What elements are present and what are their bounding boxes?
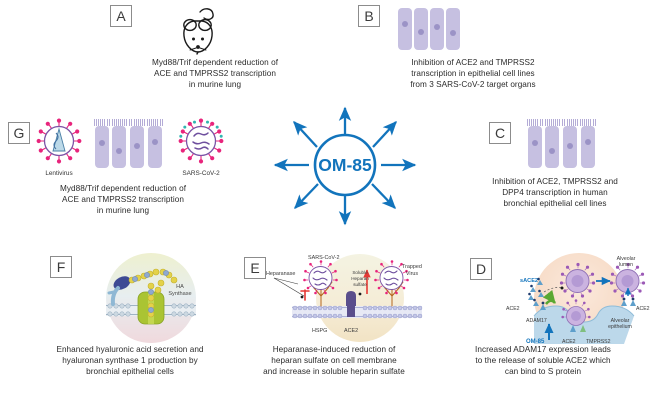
hyaluronan-synthase-icon: HA Synthase — [88, 252, 214, 344]
epithelial-cell — [398, 8, 412, 50]
panel-a-letter: A — [110, 5, 132, 27]
ciliated-epithelial-cells-icon — [527, 119, 596, 168]
panel-b: B Inhibition of ACE2 and TMPRSS2 transcr… — [358, 5, 588, 91]
panel-e: E — [228, 252, 438, 378]
svg-text:Heparan: Heparan — [351, 276, 369, 281]
panel-e-label-sarscov2: SARS-CoV-2 — [308, 255, 339, 261]
panel-d-caption: Increased ADAM17 expression leads to the… — [432, 344, 654, 378]
epithelial-cell — [562, 119, 578, 168]
svg-text:lumen: lumen — [619, 262, 633, 268]
heparanase-membrane-icon: Heparanase SARS-CoV-2 Soluble Heparan su… — [264, 252, 439, 344]
panel-c-caption: Inhibition of ACE2, TMPRSS2 and DPP4 tra… — [455, 176, 655, 210]
sars-cov-2-icon: SARS-CoV-2 — [178, 118, 224, 177]
lentivirus-label: Lentivirus — [36, 170, 82, 177]
panel-e-label-ace2: ACE2 — [344, 328, 358, 334]
panel-e-caption: Heparanase-induced reduction of heparan … — [228, 344, 440, 378]
panel-e-label-soluble-hs: Soluble — [352, 270, 368, 275]
panel-g: G — [8, 118, 238, 217]
panel-e-letter: E — [244, 257, 266, 279]
epithelial-cell — [446, 8, 460, 50]
svg-text:sulfate: sulfate — [353, 282, 367, 287]
alveolar-ace2-shedding-icon: sACE2 ACE2 ADAM17 OM-85 ACE2 TMPRSS2 ACE… — [504, 252, 654, 344]
panel-b-letter: B — [358, 5, 380, 27]
sars-cov-2-label: SARS-CoV-2 — [178, 170, 224, 177]
panel-f-caption: Enhanced hyaluronic acid secretion and h… — [25, 344, 235, 378]
panel-d-label-adam17: ADAM17 — [526, 318, 547, 324]
epithelial-cell — [580, 119, 596, 168]
panel-a: A Myd88/Tr — [110, 5, 320, 91]
panel-f-label-ha: HA — [176, 284, 184, 290]
epithelial-cell — [94, 119, 110, 168]
panel-d-label-sace2: sACE2 — [520, 278, 538, 284]
svg-text:Virus: Virus — [406, 271, 418, 277]
panel-b-caption: Inhibition of ACE2 and TMPRSS2 transcrip… — [358, 57, 588, 91]
panel-d-label-tmprss2: TMPRSS2 — [586, 339, 611, 344]
epithelial-cell — [147, 119, 163, 168]
epithelial-cell — [527, 119, 543, 168]
panel-d-label-ace2-right: ACE2 — [636, 306, 650, 312]
epithelial-cells-icon — [398, 8, 460, 50]
lentivirus-icon: Lentivirus — [36, 118, 82, 177]
panel-g-caption: Myd88/Trif dependent reduction of ACE an… — [8, 183, 238, 217]
panel-e-label-trapped: Trapped — [402, 264, 422, 270]
panel-e-label-hspg: HSPG — [312, 328, 327, 334]
panel-d-letter: D — [470, 258, 492, 280]
panel-d-label-ace2-left: ACE2 — [506, 306, 520, 312]
panel-a-caption: Myd88/Trif dependent reduction of ACE an… — [110, 57, 320, 91]
hub-label: OM-85 — [318, 155, 372, 175]
svg-text:epithelium: epithelium — [608, 324, 632, 330]
panel-c-letter: C — [489, 122, 511, 144]
epithelial-cell — [414, 8, 428, 50]
epithelial-cell — [112, 119, 128, 168]
panel-c: C — [455, 118, 655, 210]
panel-f-letter: F — [50, 256, 72, 278]
mouse-icon — [170, 5, 226, 57]
ciliated-epithelial-cells-icon — [94, 119, 163, 168]
epithelial-cell — [430, 8, 444, 50]
figure-canvas: A Myd88/Tr — [0, 0, 657, 409]
om85-hub: OM-85 — [252, 100, 438, 230]
panel-e-label-heparanase: Heparanase — [266, 271, 295, 277]
panel-d-label-om85: OM-85 — [526, 339, 545, 344]
epithelial-cell — [545, 119, 561, 168]
panel-g-letter: G — [8, 122, 30, 144]
panel-f: F — [25, 252, 235, 378]
panel-d: D — [432, 252, 654, 378]
panel-d-label-ace2-bottom: ACE2 — [562, 339, 576, 344]
panel-f-label-synthase: Synthase — [168, 291, 191, 297]
epithelial-cell — [129, 119, 145, 168]
